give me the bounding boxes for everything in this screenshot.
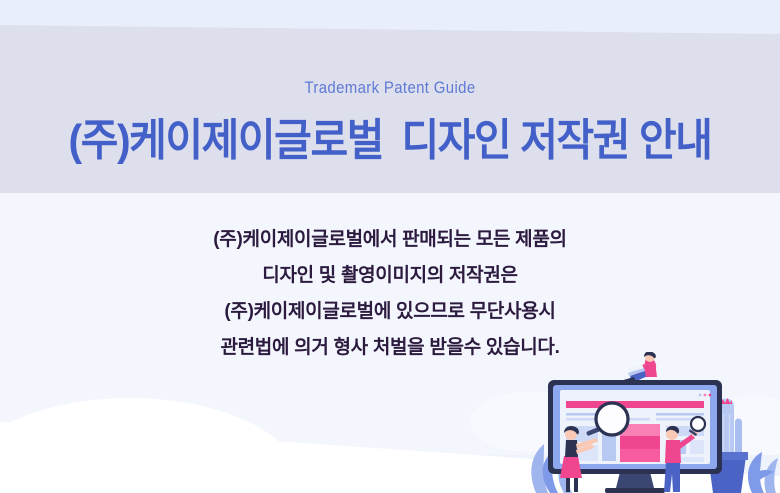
banner-title-topic: 디자인 저작권 안내 (402, 116, 712, 165)
leaf-plants-right (748, 452, 778, 493)
design-copyright-banner: Trademark Patent Guide (주)케이제이글로벌디자인 저작권… (0, 0, 780, 493)
notice-line-2: 디자인 및 촬영이미지의 저작권은 (0, 258, 780, 294)
banner-title-company: (주)케이제이글로벌 (68, 116, 382, 165)
banner-header: Trademark Patent Guide (주)케이제이글로벌디자인 저작권… (0, 0, 780, 194)
notice-line-1: (주)케이제이글로벌에서 판매되는 모든 제품의 (0, 222, 780, 258)
banner-subtitle: Trademark Patent Guide (47, 78, 733, 98)
website-review-illustration (520, 352, 780, 493)
banner-title: (주)케이제이글로벌디자인 저작권 안내 (27, 104, 752, 168)
notice-line-3: (주)케이제이글로벌에 있으므로 무단사용시 (0, 294, 780, 330)
copyright-notice-text: (주)케이제이글로벌에서 판매되는 모든 제품의 디자인 및 촬영이미지의 저작… (0, 222, 780, 366)
